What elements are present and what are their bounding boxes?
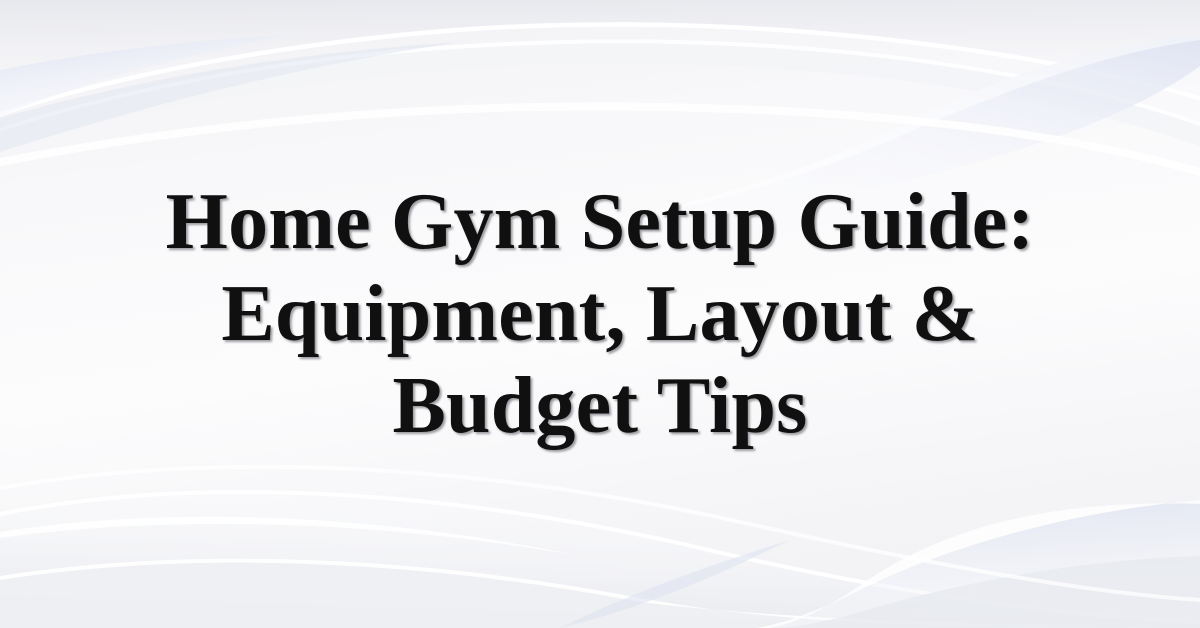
- banner-canvas: Home Gym Setup Guide: Equipment, Layout …: [0, 0, 1200, 628]
- page-title: Home Gym Setup Guide: Equipment, Layout …: [100, 176, 1100, 452]
- title-container: Home Gym Setup Guide: Equipment, Layout …: [0, 0, 1200, 628]
